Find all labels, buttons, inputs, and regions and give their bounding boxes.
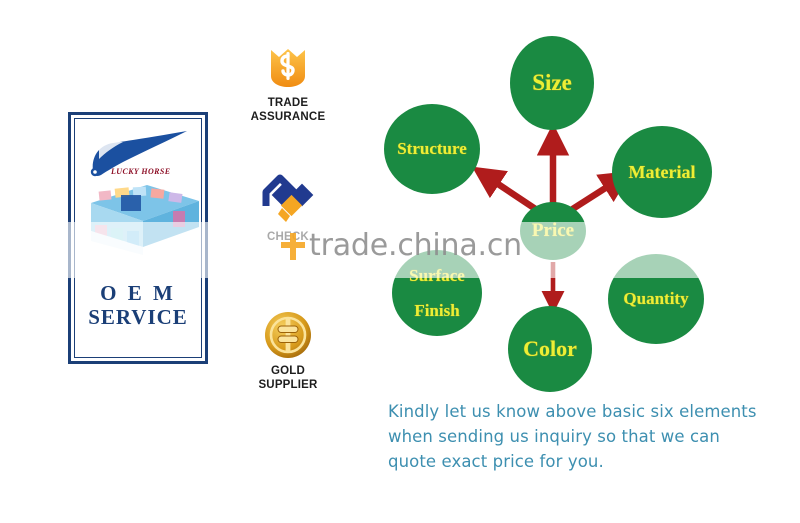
badge-gold-supplier: GOLD SUPPLIER [234,310,342,392]
oem-service-title: O E M SERVICE [75,281,201,330]
badge-trade-assurance: TRADE ASSURANCE [234,42,342,124]
badge-trade-line2: ASSURANCE [251,111,326,123]
badge-gold-line1: GOLD [271,365,305,377]
badge-check-line1: CHECK [267,231,309,243]
trade-assurance-shield-dollar-icon [263,42,313,92]
node-quantity-label: Quantity [623,290,688,308]
oem-service-panel: LUCKY HORSE O E M SERVICE [68,112,208,364]
caption-line2: when sending us inquiry so that we can [388,424,788,449]
badge-check-caption: CHECK [234,230,342,244]
node-size-label: Size [532,71,572,95]
badge-gold-line2: SUPPLIER [258,379,317,391]
node-color-label: Color [523,338,577,361]
oem-title-line2: SERVICE [75,305,201,329]
node-surface-line1: Surface [409,267,465,285]
diagram-node-quantity: Quantity [608,254,704,344]
caption-line3: quote exact price for you. [388,449,788,474]
caption-line1: Kindly let us know above basic six eleme… [388,399,788,424]
lucky-horse-wordmark: LUCKY HORSE [111,167,170,176]
diagram-node-color: Color [508,306,592,392]
node-structure-label: Structure [397,140,467,158]
oem-panel-inner-frame: LUCKY HORSE O E M SERVICE [74,118,202,358]
image-canvas: LUCKY HORSE O E M SERVICE [0,0,800,523]
node-price-label: Price [532,221,574,241]
onsite-check-diamond-icon [260,174,316,226]
oem-title-line1: O E M [75,281,201,305]
gold-supplier-coin-icon [263,310,313,360]
arrow-price-to-structure [486,176,537,210]
price-factors-diagram: Size Structure Material Surface Finish C… [372,14,800,394]
badge-trade-line1: TRADE [268,97,309,109]
diagram-node-structure: Structure [384,104,480,194]
arrow-price-to-material [571,180,618,210]
node-surface-label: Surface Finish [409,267,465,320]
badge-check: CHECK [234,174,342,244]
diagram-node-material: Material [612,126,712,218]
inquiry-caption: Kindly let us know above basic six eleme… [388,399,788,474]
product-box-image [85,181,202,255]
badge-trade-caption: TRADE ASSURANCE [234,96,342,124]
diagram-node-size: Size [510,36,594,130]
diagram-node-surface-finish: Surface Finish [392,250,482,336]
node-material-label: Material [629,163,696,182]
badge-gold-caption: GOLD SUPPLIER [234,364,342,392]
node-surface-line2: Finish [409,302,465,320]
diagram-node-price: Price [520,202,586,260]
